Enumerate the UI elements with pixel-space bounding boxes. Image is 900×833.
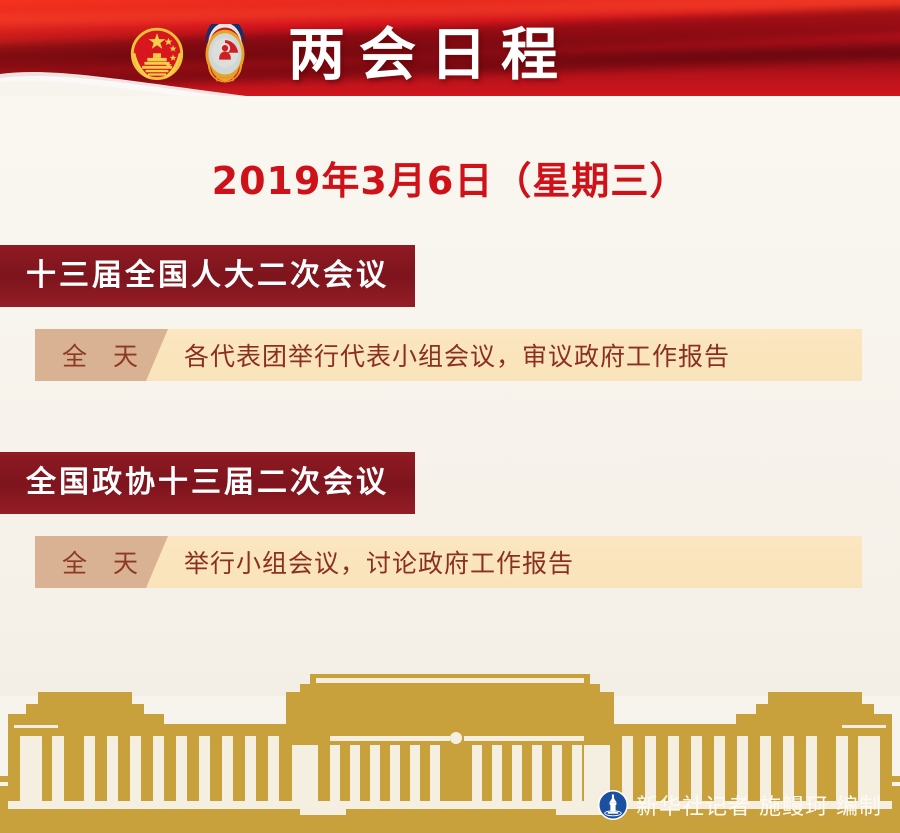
national-emblem-prc-icon bbox=[128, 24, 186, 86]
page-title: 两会日程 bbox=[288, 20, 572, 90]
credit-text: 新华社记者 施鳗珂 编制 bbox=[636, 789, 882, 821]
section-heading-npc: 十三届全国人大二次会议 bbox=[0, 245, 415, 307]
schedule-row: 全 天 各代表团举行代表小组会议，审议政府工作报告 bbox=[35, 329, 862, 381]
row-event-text: 各代表团举行代表小组会议，审议政府工作报告 bbox=[168, 329, 862, 381]
schedule-date: 2019年3月6日（星期三） bbox=[0, 150, 900, 205]
credit-block: 新华社记者 施鳗珂 编制 bbox=[598, 789, 882, 821]
section-heading-cppcc: 全国政协十三届二次会议 bbox=[0, 452, 415, 514]
emblem-group bbox=[128, 24, 254, 86]
row-time-label: 全 天 bbox=[35, 329, 168, 381]
section-npc: 十三届全国人大二次会议 全 天 各代表团举行代表小组会议，审议政府工作报告 bbox=[0, 245, 900, 381]
poster-root: 两会日程 2019年3月6日（星期三） 十三届全国人大二次会议 全 天 各代表团… bbox=[0, 0, 900, 833]
section-cppcc: 全国政协十三届二次会议 全 天 举行小组会议，讨论政府工作报告 bbox=[0, 452, 900, 588]
cppcc-emblem-icon bbox=[196, 24, 254, 86]
xinhua-logo-icon bbox=[598, 790, 628, 820]
schedule-row: 全 天 举行小组会议，讨论政府工作报告 bbox=[35, 536, 862, 588]
row-time-label: 全 天 bbox=[35, 536, 168, 588]
row-event-text: 举行小组会议，讨论政府工作报告 bbox=[168, 536, 862, 588]
